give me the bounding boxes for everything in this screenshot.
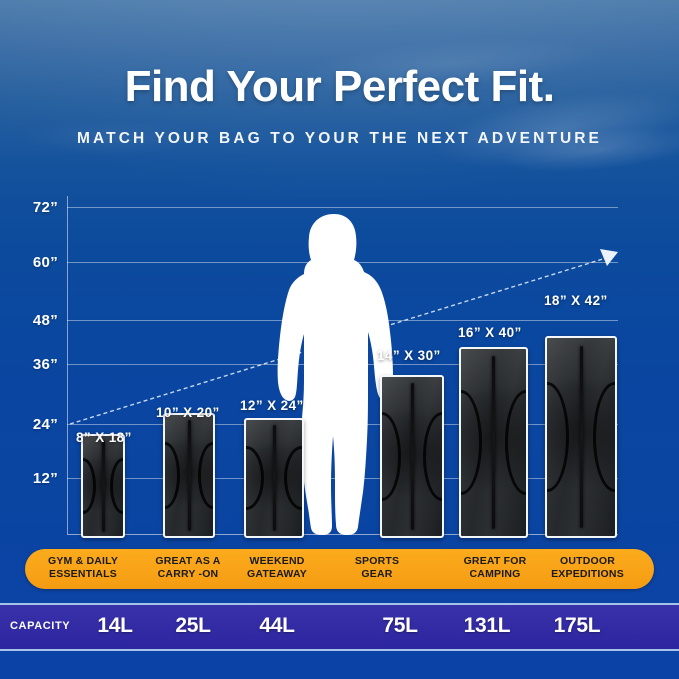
bag-dimension-label: 8” X 18” xyxy=(76,430,132,445)
capacity-strip: CAPACITY 14L25L44L75L131L175L xyxy=(0,603,679,651)
use-case-line2: EXPEDITIONS xyxy=(530,568,645,581)
bag-dimension-label: 12” X 24” xyxy=(240,398,304,413)
duffel-bag-bar[interactable] xyxy=(545,336,617,538)
bag-arch-left xyxy=(163,442,180,510)
y-axis-tick-label: 12” xyxy=(12,470,58,487)
bag-arch-left xyxy=(459,390,482,495)
y-axis-tick-label: 48” xyxy=(12,312,58,329)
bag-seam xyxy=(580,346,583,528)
use-case-line1: WEEKEND xyxy=(222,555,332,568)
gridline xyxy=(67,207,618,208)
capacity-value: 75L xyxy=(355,614,445,638)
y-axis-tick-label: 36” xyxy=(12,356,58,373)
bag-arch-left xyxy=(244,446,264,511)
use-case-cell: GYM & DAILYESSENTIALS xyxy=(30,555,136,581)
bag-arch-right xyxy=(198,442,215,510)
bag-arch-right xyxy=(423,412,444,501)
duffel-bag-bar[interactable] xyxy=(380,375,444,538)
bag-arch-left xyxy=(81,458,96,514)
bag-arch-right xyxy=(505,390,528,495)
bag-arch-left xyxy=(380,412,401,501)
use-case-cell: WEEKENDGATEAWAY xyxy=(222,555,332,581)
use-case-cell: OUTDOOREXPEDITIONS xyxy=(530,555,645,581)
use-case-line1: GYM & DAILY xyxy=(30,555,136,568)
bag-arch-right xyxy=(593,382,617,493)
bag-arch-left xyxy=(545,382,569,493)
chart-y-axis xyxy=(67,196,68,534)
bag-seam xyxy=(102,440,105,532)
duffel-bag-bar[interactable] xyxy=(163,413,215,538)
y-axis-tick-label: 60” xyxy=(12,254,58,271)
bag-dimension-label: 14” X 30” xyxy=(377,348,441,363)
use-case-line2: ESSENTIALS xyxy=(30,568,136,581)
use-case-cell: SPORTSGEAR xyxy=(322,555,432,581)
capacity-value: 14L xyxy=(70,614,160,638)
bag-dimension-label: 10” X 20” xyxy=(156,405,220,420)
capacity-value: 25L xyxy=(148,614,238,638)
bag-seam xyxy=(411,383,414,529)
capacity-label: CAPACITY xyxy=(10,620,70,632)
bag-seam xyxy=(273,425,276,532)
bag-seam xyxy=(492,356,495,528)
use-case-line2: GEAR xyxy=(322,568,432,581)
duffel-bag-bar[interactable] xyxy=(81,434,125,538)
capacity-value: 44L xyxy=(232,614,322,638)
bag-arch-right xyxy=(284,446,304,511)
duffel-bag-bar[interactable] xyxy=(244,418,304,538)
capacity-value: 131L xyxy=(442,614,532,638)
use-case-line1: SPORTS xyxy=(322,555,432,568)
bag-arch-right xyxy=(110,458,125,514)
duffel-bag-bar[interactable] xyxy=(459,347,528,538)
bag-dimension-label: 16” X 40” xyxy=(458,325,522,340)
y-axis-tick-label: 24” xyxy=(12,416,58,433)
infographic-canvas: Find Your Perfect Fit. MATCH YOUR BAG TO… xyxy=(0,0,679,679)
use-case-line1: OUTDOOR xyxy=(530,555,645,568)
bag-seam xyxy=(188,420,191,531)
y-axis-tick-label: 72” xyxy=(12,199,58,216)
bag-dimension-label: 18” X 42” xyxy=(544,293,608,308)
capacity-value: 175L xyxy=(532,614,622,638)
use-case-line2: GATEAWAY xyxy=(222,568,332,581)
use-case-strip: GYM & DAILYESSENTIALSGREAT AS ACARRY -ON… xyxy=(25,549,654,589)
